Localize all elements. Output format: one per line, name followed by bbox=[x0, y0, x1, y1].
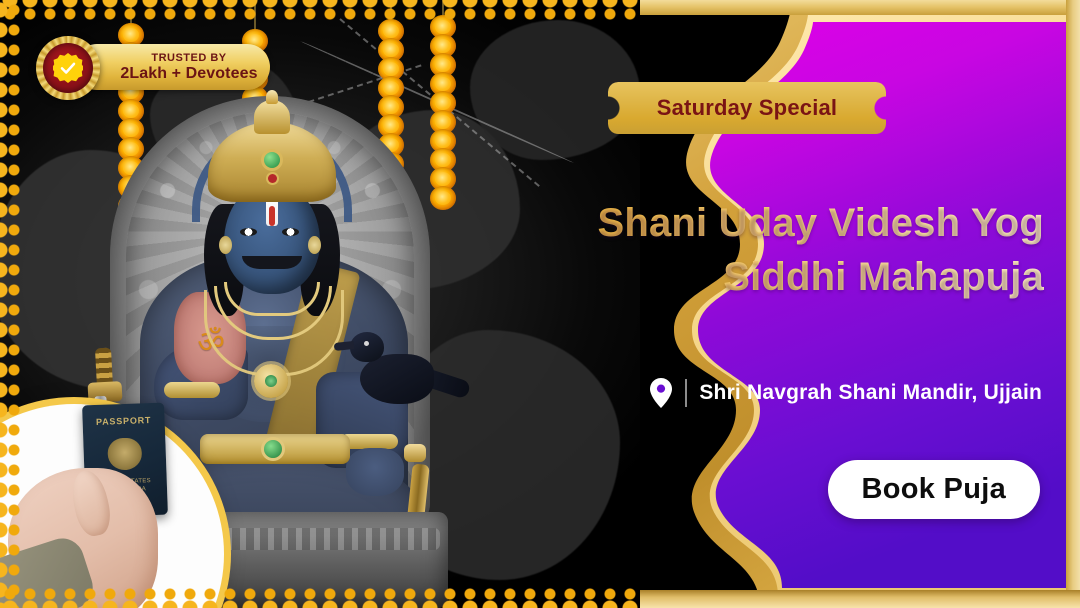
book-puja-button[interactable]: Book Puja bbox=[828, 460, 1041, 519]
location-row: Shri Navgrah Shani Mandir, Ujjain bbox=[649, 378, 1042, 408]
crown-finial bbox=[254, 100, 290, 134]
crown-finial-tip bbox=[266, 90, 278, 104]
mace-icon bbox=[404, 444, 426, 462]
trust-badge-pill: TRUSTED BY 2Lakh + Devotees bbox=[74, 44, 270, 90]
deity-moustache bbox=[242, 256, 302, 269]
gold-frame-bottom bbox=[640, 590, 1080, 608]
verified-seal-inner bbox=[43, 43, 93, 93]
page-title: Shani Uday Videsh Yog Siddhi Mahapuja bbox=[460, 196, 1044, 304]
location-divider bbox=[685, 379, 687, 407]
deity-eye bbox=[282, 228, 299, 236]
crown-gem bbox=[264, 152, 280, 168]
ribbon-label: Saturday Special bbox=[657, 95, 838, 121]
crown-gem bbox=[268, 174, 277, 183]
pendant-icon bbox=[254, 364, 288, 398]
map-pin-icon bbox=[649, 378, 673, 408]
gold-frame-top bbox=[640, 0, 1080, 15]
bangle-icon bbox=[164, 382, 220, 398]
crow-icon bbox=[350, 332, 384, 362]
earring-icon bbox=[308, 236, 321, 254]
crow-eye bbox=[364, 341, 369, 346]
belt-gem bbox=[264, 440, 282, 458]
location-label: Shri Navgrah Shani Mandir, Ujjain bbox=[699, 381, 1042, 405]
earring-icon bbox=[219, 236, 232, 254]
trust-badge-line2: 2Lakh + Devotees bbox=[120, 65, 257, 83]
title-line-2: Siddhi Mahapuja bbox=[460, 250, 1044, 304]
saturday-special-ribbon: Saturday Special bbox=[608, 82, 886, 134]
verified-check-icon bbox=[53, 53, 83, 83]
trust-badge-line1: TRUSTED BY bbox=[151, 52, 226, 65]
deity-eye bbox=[240, 228, 257, 236]
promotional-banner: ॐ bbox=[0, 0, 1080, 608]
passport-emblem bbox=[107, 437, 142, 470]
passport-title: PASSPORT bbox=[82, 415, 164, 428]
panel-content: Saturday Special Shani Uday Videsh Yog S… bbox=[460, 0, 1080, 608]
deity-right-hand bbox=[346, 448, 404, 496]
verified-seal bbox=[36, 36, 100, 100]
title-line-1: Shani Uday Videsh Yog bbox=[460, 196, 1044, 250]
gold-frame-right bbox=[1066, 0, 1080, 608]
